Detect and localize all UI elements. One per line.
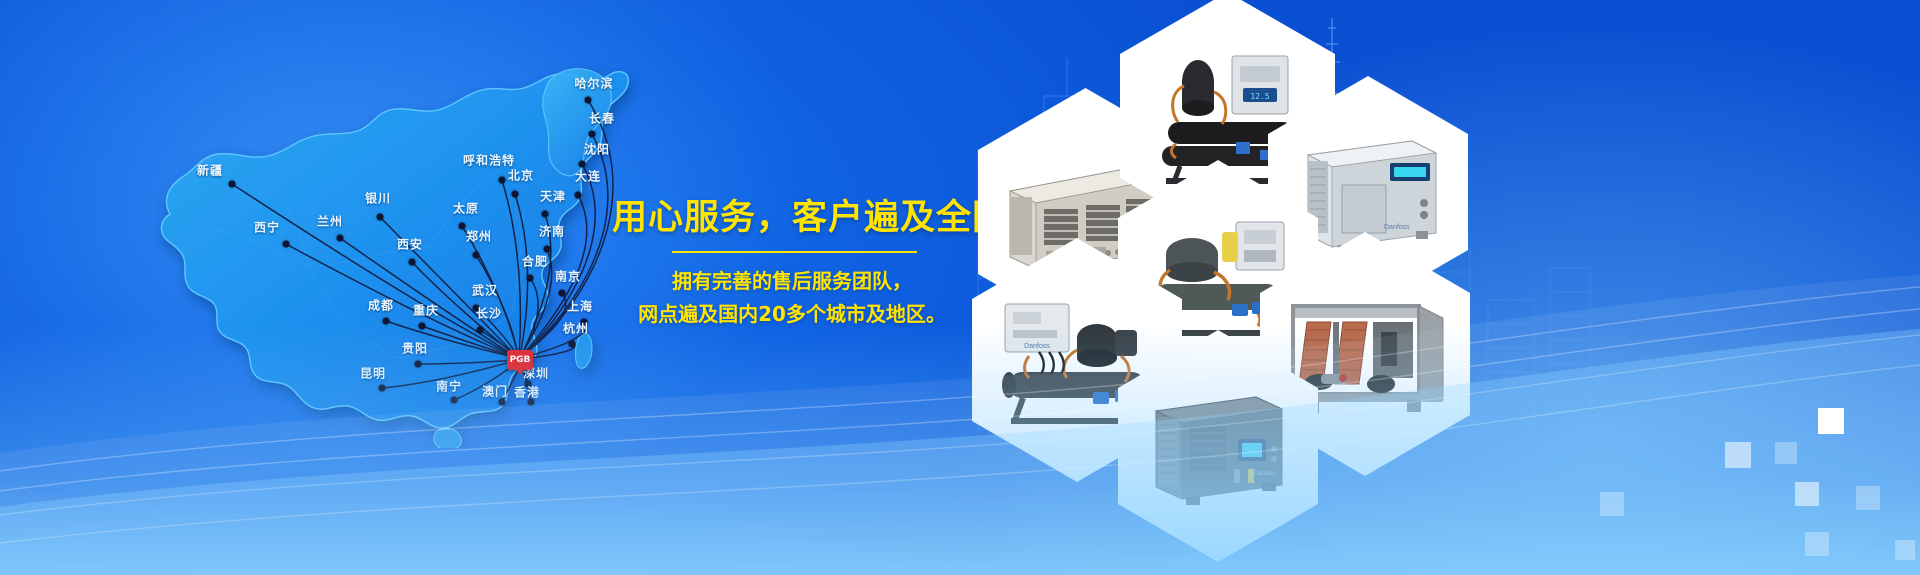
banner-copy-block: 用心服务，客户遍及全国 拥有完善的售后服务团队， 网点遍及国内20多个城市及地区… (612, 198, 972, 331)
map-city-dot (512, 191, 519, 198)
map-city-label: 北京 (508, 167, 534, 184)
svg-text:12.5: 12.5 (1250, 92, 1269, 101)
map-city-dot (585, 97, 592, 104)
map-city-label: 重庆 (413, 302, 439, 319)
svg-text:Danfoss: Danfoss (1254, 471, 1276, 477)
map-city-dot (283, 241, 290, 248)
map-city-label: 兰州 (317, 213, 343, 230)
map-city-label: 大连 (575, 168, 601, 185)
promo-banner: 新疆哈尔滨长春沈阳呼和浩特北京大连天津银川太原兰州西宁济南西安郑州合肥南京武汉重… (0, 0, 1920, 575)
map-city-dot (409, 259, 416, 266)
map-city-label: 武汉 (472, 282, 498, 299)
map-city-dot (499, 177, 506, 184)
banner-subtitle-line-1: 拥有完善的售后服务团队， (612, 265, 972, 298)
map-city-label: 西安 (397, 236, 423, 253)
product-hexagon-gallery: 12.5 (950, 0, 1920, 575)
decorative-square (1856, 486, 1880, 510)
map-city-label: 上海 (567, 298, 593, 315)
map-city-label: 哈尔滨 (574, 75, 613, 92)
map-city-label: 济南 (539, 223, 565, 240)
decorative-square (1725, 442, 1751, 468)
banner-subtitle-line-2: 网点遍及国内20多个城市及地区。 (612, 298, 972, 331)
map-city-dot (579, 161, 586, 168)
map-city-dot (559, 290, 566, 297)
map-city-dot (473, 252, 480, 259)
map-city-label: 成都 (368, 297, 394, 314)
map-city-label: 杭州 (563, 320, 589, 337)
decorative-square (1600, 492, 1624, 516)
map-city-label: 西宁 (254, 219, 280, 236)
map-city-label: 天津 (540, 188, 566, 205)
map-city-dot (383, 318, 390, 325)
map-city-dot (337, 235, 344, 242)
map-city-label: 新疆 (197, 162, 223, 179)
map-city-label: 合肥 (522, 253, 548, 270)
china-distribution-map: 新疆哈尔滨长春沈阳呼和浩特北京大连天津银川太原兰州西宁济南西安郑州合肥南京武汉重… (110, 18, 670, 448)
map-city-dot (477, 327, 484, 334)
map-city-label: 昆明 (360, 365, 386, 382)
map-city-label: 太原 (453, 200, 479, 217)
map-city-label: 郑州 (466, 228, 492, 245)
map-city-dot (544, 246, 551, 253)
hub-label: PGB (510, 355, 531, 365)
map-city-dot (415, 361, 422, 368)
map-city-label: 南宁 (436, 378, 462, 395)
svg-text:Danfoss: Danfoss (1384, 224, 1410, 231)
map-city-dot (569, 341, 576, 348)
headline-divider (672, 251, 917, 253)
decorative-square (1805, 532, 1829, 556)
map-city-dot (379, 385, 386, 392)
map-city-dot (542, 211, 549, 218)
decorative-square (1795, 482, 1819, 506)
decorative-square (1818, 408, 1844, 434)
map-city-dot (527, 275, 534, 282)
map-city-dot (377, 214, 384, 221)
map-city-dot (589, 131, 596, 138)
map-city-label: 银川 (365, 190, 391, 207)
map-hub-marker: PGB (507, 350, 533, 370)
map-city-dot (459, 223, 466, 230)
svg-text:Danfoss: Danfoss (1024, 343, 1050, 350)
map-city-label: 长春 (589, 110, 615, 127)
map-city-dot (451, 397, 458, 404)
map-city-dot (229, 181, 236, 188)
decorative-square (1775, 442, 1797, 464)
map-city-label: 长沙 (476, 305, 502, 322)
banner-headline: 用心服务，客户遍及全国 (612, 198, 972, 238)
map-city-label: 贵阳 (402, 340, 428, 357)
map-city-label: 澳门 (482, 383, 508, 400)
map-city-dot (575, 192, 582, 199)
map-city-dot (499, 399, 506, 406)
map-city-label: 南京 (555, 268, 581, 285)
decorative-square (1895, 540, 1915, 560)
map-city-dot (419, 323, 426, 330)
map-city-label: 香港 (514, 384, 540, 401)
map-city-label: 沈阳 (584, 141, 610, 158)
